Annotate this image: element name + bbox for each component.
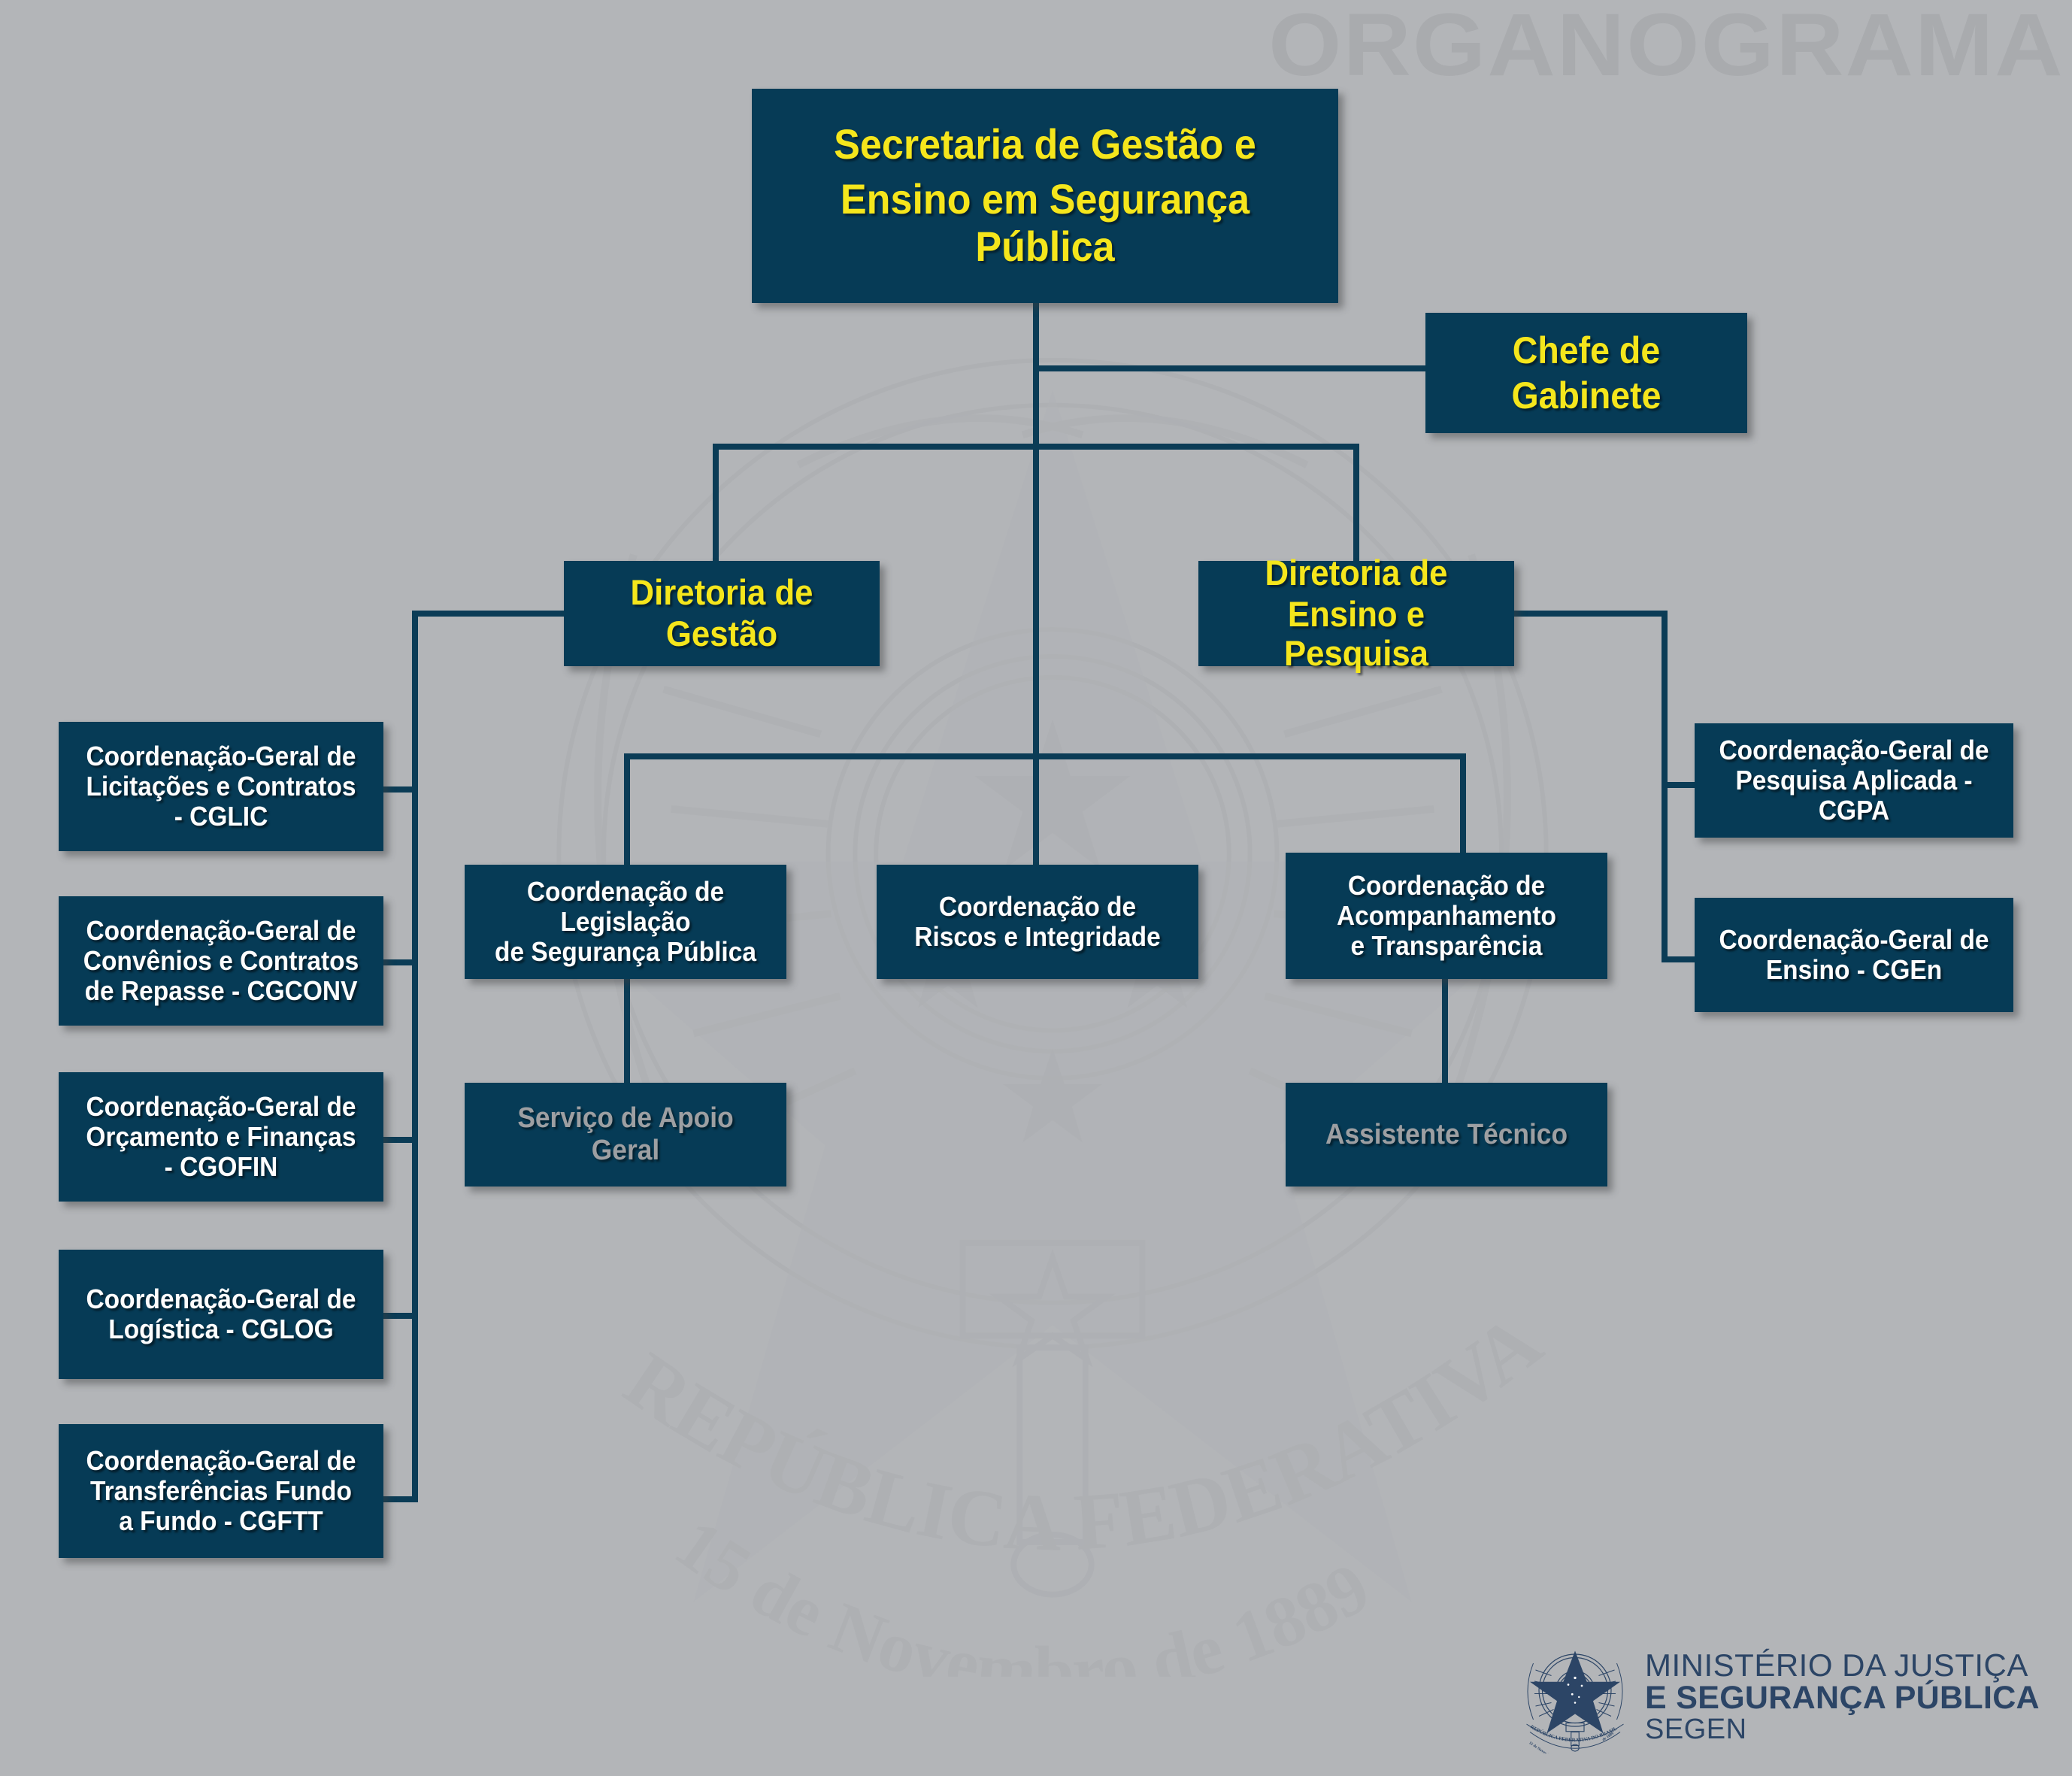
- connector-chefe-gabinete: [1033, 365, 1431, 371]
- node-cgftt-line3: a Fundo - CGFTT: [80, 1506, 362, 1536]
- connector-rail-cgen: [1662, 956, 1696, 962]
- node-cglog-line2: Logística - CGLOG: [80, 1314, 362, 1344]
- connector-rail-cglog: [382, 1313, 418, 1319]
- connector-rail-cgftt: [382, 1496, 418, 1502]
- node-cgconv-line2: Convênios e Contratos: [80, 946, 362, 976]
- node-coordenacao-acompanhamento[interactable]: Coordenação de Acompanhamento e Transpar…: [1286, 853, 1607, 979]
- node-legislacao-line1: Coordenação de Legislação: [486, 877, 765, 938]
- node-cglic-line3: - CGLIC: [80, 802, 362, 832]
- connector-to-diretoria-gestao: [713, 444, 719, 564]
- ministry-line3: SEGEN: [1645, 1715, 2040, 1744]
- node-cgofin[interactable]: Coordenação-Geral de Orçamento e Finança…: [59, 1072, 383, 1202]
- connector-legislacao-to-apoio: [624, 977, 630, 1083]
- svg-text:15 de Novembro: 15 de Novembro: [1528, 1741, 1553, 1753]
- node-secretaria-line2: Ensino em Segurança Pública: [782, 176, 1307, 270]
- connector-rail-cgconv: [382, 959, 418, 965]
- node-acompanhamento-line1: Coordenação de: [1307, 871, 1586, 901]
- node-cgftt-line1: Coordenação-Geral de: [80, 1446, 362, 1476]
- node-chefe-gabinete-line1: Chefe de: [1446, 329, 1726, 371]
- node-cglic[interactable]: Coordenação-Geral de Licitações e Contra…: [59, 722, 383, 851]
- node-cgen-line2: Ensino - CGEn: [1716, 955, 1992, 985]
- node-acompanhamento-line2: Acompanhamento: [1307, 901, 1586, 931]
- node-cgpa-line2: Pesquisa Aplicada - CGPA: [1716, 765, 1992, 826]
- organogram-canvas: REPÚBLICA FEDERATIVA DO BRASIL 15 de Nov…: [0, 0, 2072, 1776]
- connector-to-diretoria-ensino: [1353, 444, 1359, 564]
- node-cgofin-line3: - CGOFIN: [80, 1152, 362, 1182]
- connector-to-riscos: [1033, 753, 1039, 868]
- node-legislacao-line2: de Segurança Pública: [486, 937, 765, 967]
- svg-text:15 de Novembro de 188: 15 de Novembro de 1889: [662, 1504, 1383, 1677]
- connector-segen-trunk: [1033, 301, 1039, 444]
- node-diretoria-gestao-line2: Gestão: [585, 614, 859, 654]
- ministry-logo: REPÚBLICA FEDERATIVA DO BRASIL 15 de Nov…: [1519, 1641, 2040, 1753]
- node-riscos-line1: Coordenação de: [898, 892, 1177, 922]
- node-diretoria-ensino-line1: Diretoria de: [1219, 553, 1494, 593]
- node-coordenacao-legislacao[interactable]: Coordenação de Legislação de Segurança P…: [465, 865, 786, 979]
- node-cgconv[interactable]: Coordenação-Geral de Convênios e Contrat…: [59, 896, 383, 1026]
- ministry-line1: MINISTÉRIO DA JUSTIÇA: [1645, 1650, 2040, 1682]
- connector-coordenacoes-bar: [624, 753, 1466, 759]
- connector-rail-cgpa: [1662, 782, 1696, 788]
- connector-ensino-to-right-rail: [1508, 611, 1668, 617]
- node-cglog-line1: Coordenação-Geral de: [80, 1284, 362, 1314]
- ministry-line2: E SEGURANÇA PÚBLICA: [1645, 1682, 2040, 1715]
- node-cglic-line2: Licitações e Contratos: [80, 771, 362, 802]
- node-chefe-gabinete-line2: Gabinete: [1446, 374, 1726, 417]
- node-cgen-line1: Coordenação-Geral de: [1716, 925, 1992, 955]
- connector-rail-cglic: [382, 786, 418, 793]
- connector-rail-cgofin: [382, 1137, 418, 1143]
- node-chefe-gabinete[interactable]: Chefe de Gabinete: [1425, 313, 1747, 433]
- node-cgftt[interactable]: Coordenação-Geral de Transferências Fund…: [59, 1424, 383, 1558]
- connector-left-rail: [412, 611, 418, 1502]
- node-cgconv-line1: Coordenação-Geral de: [80, 916, 362, 946]
- organograma-watermark: ORGANOGRAMA: [1268, 0, 2064, 96]
- node-apoio-geral-label: Serviço de Apoio Geral: [486, 1102, 765, 1166]
- node-secretaria-line1: Secretaria de Gestão e: [782, 121, 1307, 168]
- node-servico-apoio-geral[interactable]: Serviço de Apoio Geral: [465, 1083, 786, 1187]
- node-cgconv-line3: de Repasse - CGCONV: [80, 976, 362, 1006]
- node-acompanhamento-line3: e Transparência: [1307, 931, 1586, 961]
- node-diretoria-gestao[interactable]: Diretoria de Gestão: [564, 561, 880, 666]
- node-diretoria-ensino-pesquisa[interactable]: Diretoria de Ensino e Pesquisa: [1198, 561, 1514, 666]
- node-cgpa-line1: Coordenação-Geral de: [1716, 735, 1992, 765]
- node-cgftt-line2: Transferências Fundo: [80, 1476, 362, 1506]
- node-diretoria-ensino-line2: Ensino e Pesquisa: [1219, 595, 1494, 674]
- node-cgen[interactable]: Coordenação-Geral de Ensino - CGEn: [1695, 898, 2013, 1012]
- node-cgofin-line2: Orçamento e Finanças: [80, 1122, 362, 1152]
- connector-acompanhamento-to-assistente: [1442, 977, 1448, 1083]
- node-cgofin-line1: Coordenação-Geral de: [80, 1092, 362, 1122]
- node-assistente-tecnico[interactable]: Assistente Técnico: [1286, 1083, 1607, 1187]
- node-cglic-line1: Coordenação-Geral de: [80, 741, 362, 771]
- connector-to-legislacao: [624, 753, 630, 868]
- node-coordenacao-riscos[interactable]: Coordenação de Riscos e Integridade: [877, 865, 1198, 979]
- brazil-coat-of-arms-icon: REPÚBLICA FEDERATIVA DO BRASIL 15 de Nov…: [1519, 1641, 1631, 1753]
- node-assistente-label: Assistente Técnico: [1307, 1119, 1586, 1151]
- connector-diretorias-bar: [713, 444, 1359, 450]
- node-cgpa[interactable]: Coordenação-Geral de Pesquisa Aplicada -…: [1695, 723, 2013, 838]
- node-diretoria-gestao-line1: Diretoria de: [585, 573, 859, 613]
- node-secretaria[interactable]: Secretaria de Gestão e Ensino em Seguran…: [752, 89, 1338, 303]
- node-riscos-line2: Riscos e Integridade: [898, 922, 1177, 952]
- node-cglog[interactable]: Coordenação-Geral de Logística - CGLOG: [59, 1250, 383, 1379]
- connector-to-acompanhamento: [1460, 753, 1466, 868]
